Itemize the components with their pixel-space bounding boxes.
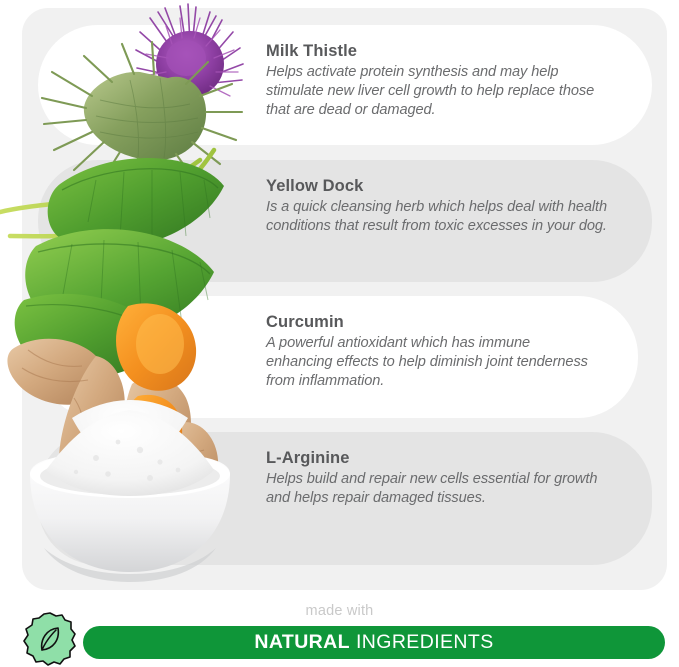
banner-strong-text: NATURAL (254, 631, 350, 654)
ingredient-card-milk-thistle: Milk Thistle Helps activate protein synt… (38, 25, 652, 145)
ingredient-description: Is a quick cleansing herb which helps de… (266, 198, 612, 237)
ingredient-description: Helps build and repair new cells essenti… (266, 470, 612, 509)
ingredient-card-curcumin: Curcumin A powerful antioxidant which ha… (38, 296, 638, 418)
ingredient-title: Curcumin (266, 312, 598, 333)
ingredient-description: Helps activate protein synthesis and may… (266, 63, 612, 121)
ingredient-card-yellow-dock: Yellow Dock Is a quick cleansing herb wh… (38, 160, 652, 282)
ingredient-description: A powerful antioxidant which has immune … (266, 334, 598, 392)
ingredients-infographic: Milk Thistle Helps activate protein synt… (0, 0, 679, 667)
natural-ingredients-banner: NATURAL INGREDIENTS (83, 626, 665, 659)
banner-light-text: INGREDIENTS (356, 631, 494, 654)
ingredient-title: Milk Thistle (266, 41, 612, 62)
ingredient-title: L-Arginine (266, 448, 612, 469)
leaf-badge-icon (20, 610, 80, 667)
made-with-label: made with (0, 603, 679, 619)
ingredient-card-l-arginine: L-Arginine Helps build and repair new ce… (38, 432, 652, 565)
ingredient-title: Yellow Dock (266, 176, 612, 197)
